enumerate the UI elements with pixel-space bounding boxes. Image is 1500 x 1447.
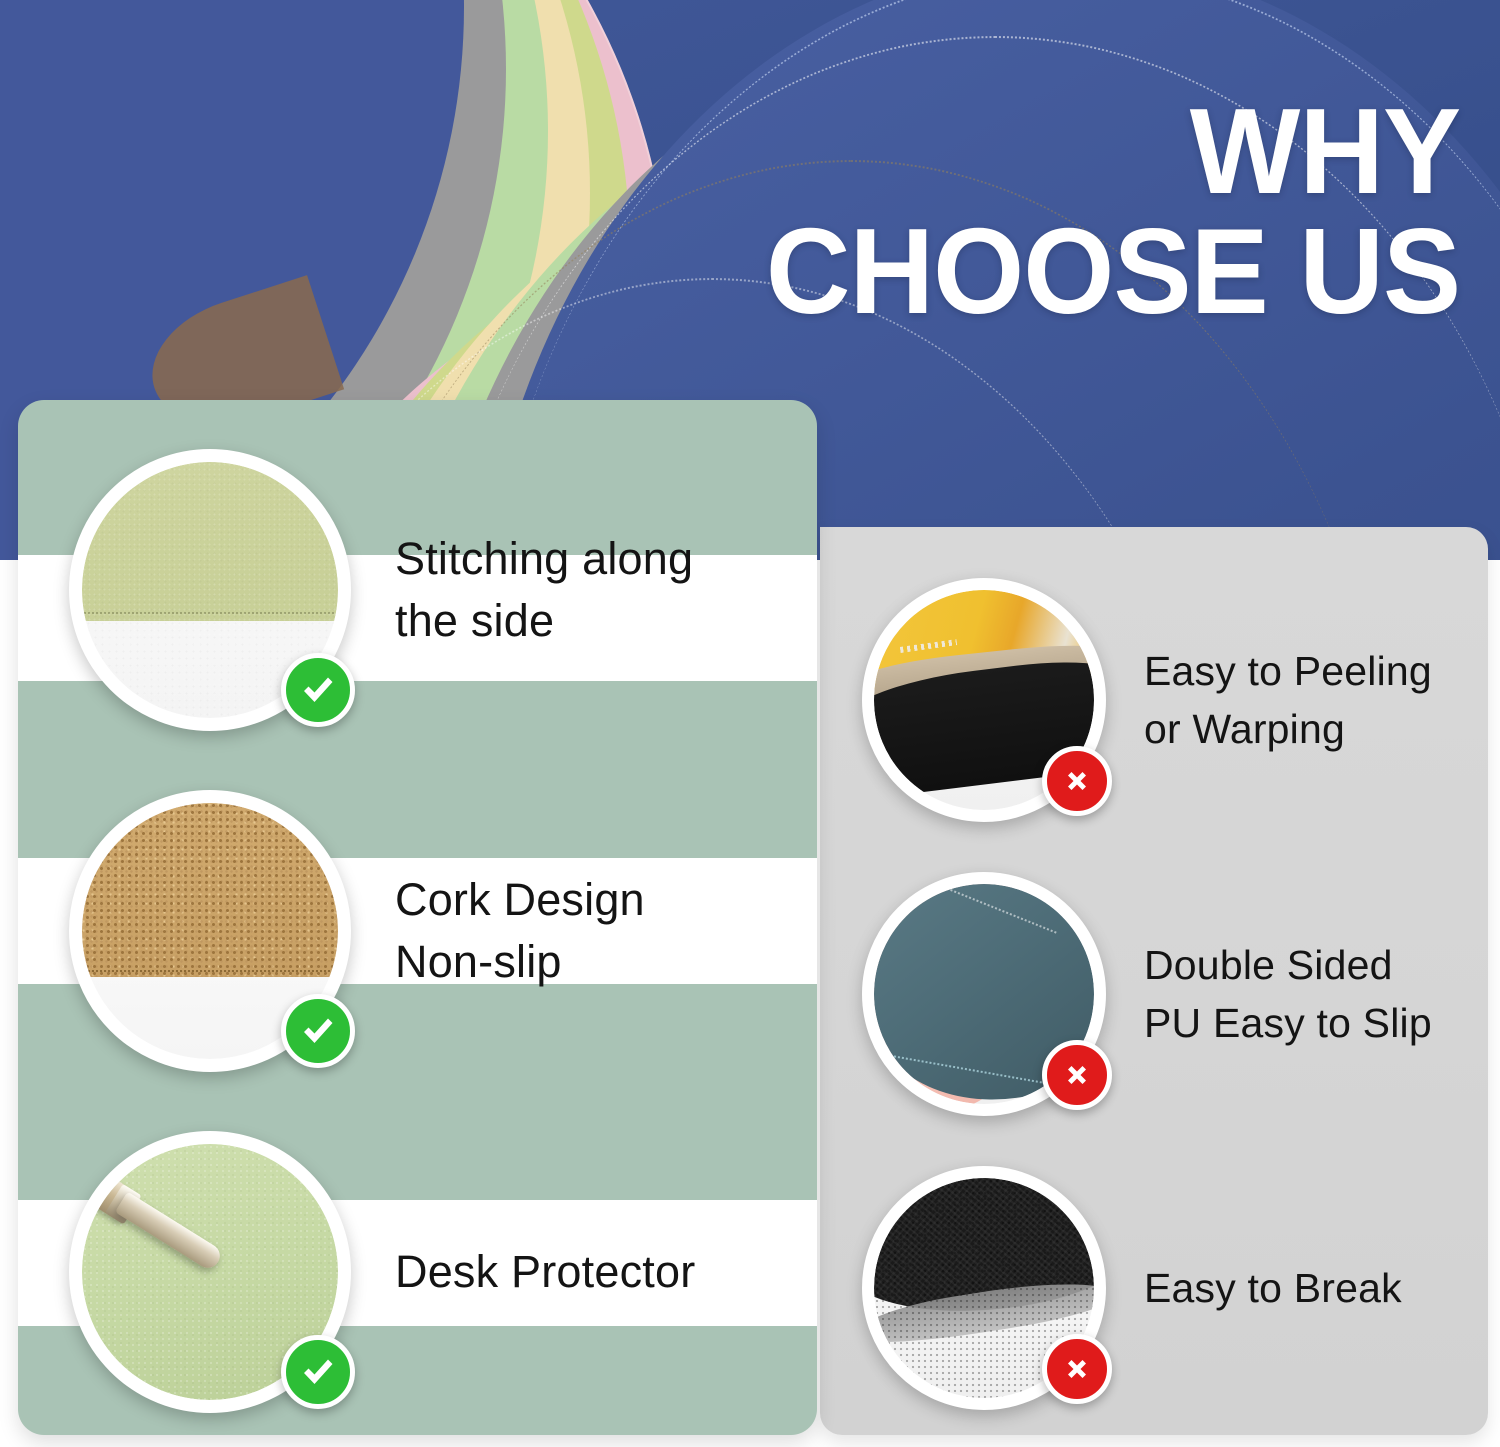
check-badge [281,1335,355,1409]
con-row-2: Double Sided PU Easy to Slip [862,872,1432,1116]
cross-badge [1042,1040,1112,1110]
pro-photo-3-wrap [69,1131,351,1413]
con-photo-3-wrap [862,1166,1106,1410]
pro-row-1: Stitching along the side [69,449,693,731]
con-row-3: Easy to Break [862,1166,1402,1410]
check-badge [281,653,355,727]
con-label-2: Double Sided PU Easy to Slip [1144,936,1432,1052]
page-title: WHY CHOOSE US [737,95,1460,327]
pro-row-3: Desk Protector [69,1131,695,1413]
con-row-1: Easy to Peeling or Warping [862,578,1432,822]
con-label-3: Easy to Break [1144,1259,1402,1317]
con-label-1: Easy to Peeling or Warping [1144,642,1432,758]
con-photo-2-wrap [862,872,1106,1116]
pro-row-2: Cork Design Non-slip [69,790,645,1072]
pro-label-3: Desk Protector [395,1241,695,1303]
pro-photo-2-wrap [69,790,351,1072]
cross-badge [1042,1334,1112,1404]
con-photo-1-wrap [862,578,1106,822]
check-badge [281,994,355,1068]
cross-badge [1042,746,1112,816]
page-title-line2: CHOOSE US [766,215,1460,327]
page-title-line1: WHY [766,95,1460,207]
infographic-root: WHY CHOOSE US Easy to Peeling or Warping [0,0,1500,1447]
pro-photo-1-wrap [69,449,351,731]
pro-label-1: Stitching along the side [395,528,693,652]
pro-label-2: Cork Design Non-slip [395,869,645,993]
